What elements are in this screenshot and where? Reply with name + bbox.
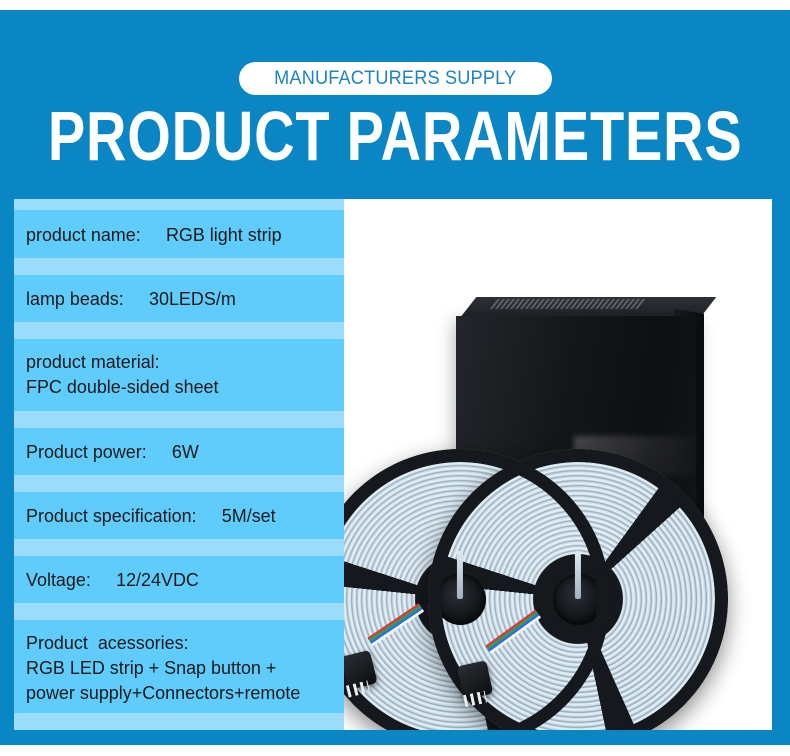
spec-row-text: product name:RGB light strip (26, 222, 282, 247)
spec-gap (14, 603, 344, 620)
spec-label: Voltage: (26, 569, 91, 590)
table-row: Product power:6W (14, 428, 344, 475)
spec-label: product material: (26, 351, 160, 372)
spec-gap (14, 539, 344, 556)
spec-gap (14, 322, 344, 339)
spec-value: 12/24VDC (116, 569, 199, 590)
table-row: lamp beads:30LEDS/m (14, 275, 344, 322)
badge-label: MANUFACTURERS SUPPLY (274, 67, 516, 90)
spec-row-text: product material:FPC double-sided sheet (26, 349, 219, 399)
spec-gap (14, 475, 344, 492)
table-row: product name:RGB light strip (14, 210, 344, 258)
footer-blue-band (0, 730, 790, 745)
reel-hub-left (435, 574, 486, 625)
spec-value: 30LEDS/m (149, 288, 236, 309)
spec-row-text: Product specification:5M/set (26, 503, 276, 528)
right-blue-edge (772, 10, 790, 745)
spec-label: Product specification: (26, 505, 197, 526)
spec-gap (14, 411, 344, 428)
product-photo-scene (344, 199, 772, 730)
spec-label: Product acessories: (26, 632, 189, 653)
spec-value: RGB LED strip + Snap button + power supp… (26, 657, 300, 703)
product-photo (344, 199, 772, 730)
reel-hub-right (553, 574, 604, 625)
page-title-text: PRODUCT PARAMETERS (48, 101, 743, 171)
table-row: Voltage:12/24VDC (14, 556, 344, 603)
table-row: Product acessories:RGB LED strip + Snap … (14, 620, 344, 713)
table-row: Product specification:5M/set (14, 492, 344, 539)
spec-gap (14, 199, 344, 210)
page-title: PRODUCT PARAMETERS (0, 100, 790, 172)
spec-row-text: Product acessories:RGB LED strip + Snap … (26, 630, 300, 705)
spec-value: FPC double-sided sheet (26, 376, 219, 397)
spec-table: product name:RGB light strip lamp beads:… (14, 199, 344, 730)
spec-label: lamp beads: (26, 288, 124, 309)
spec-row-text: Voltage:12/24VDC (26, 567, 199, 592)
spec-value: RGB light strip (166, 224, 282, 245)
product-parameters-infographic: MANUFACTURERS SUPPLY PRODUCT PARAMETERS (0, 0, 790, 756)
spec-row-text: Product power:6W (26, 439, 199, 464)
spec-label: Product power: (26, 441, 147, 462)
spec-label: product name: (26, 224, 141, 245)
spec-gap (14, 258, 344, 275)
spec-value: 6W (172, 441, 199, 462)
spec-value: 5M/set (222, 505, 276, 526)
product-carton-print (490, 299, 648, 309)
table-row: product material:FPC double-sided sheet (14, 339, 344, 411)
manufacturers-supply-badge: MANUFACTURERS SUPPLY (239, 62, 552, 95)
spec-row-text: lamp beads:30LEDS/m (26, 286, 236, 311)
